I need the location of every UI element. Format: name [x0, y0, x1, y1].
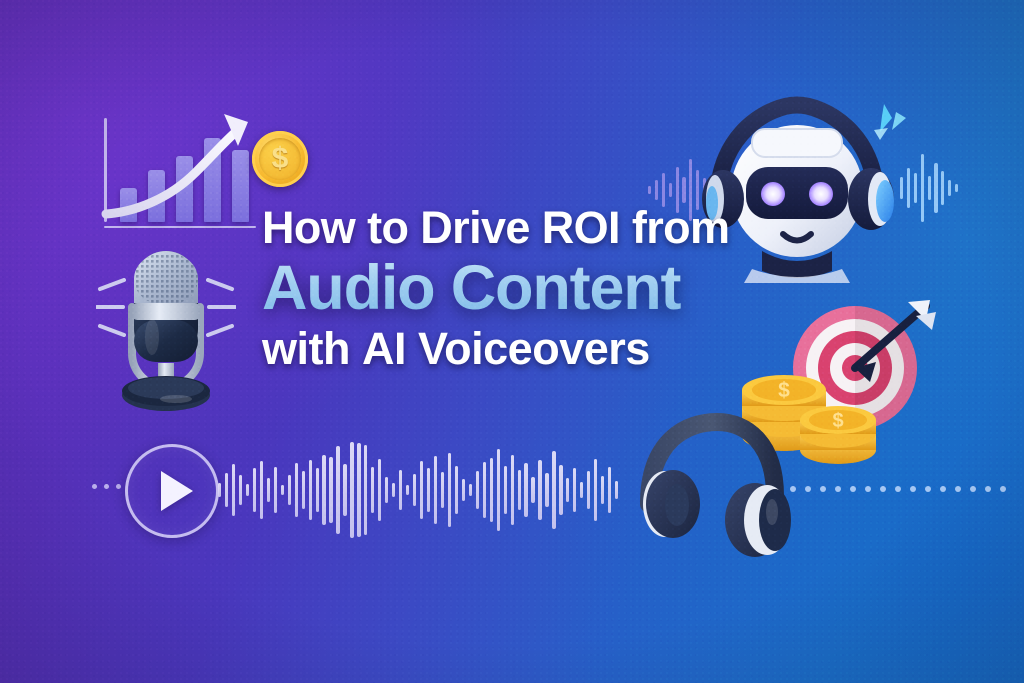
background-texture	[0, 0, 1024, 683]
banner-canvas: $	[0, 0, 1024, 683]
